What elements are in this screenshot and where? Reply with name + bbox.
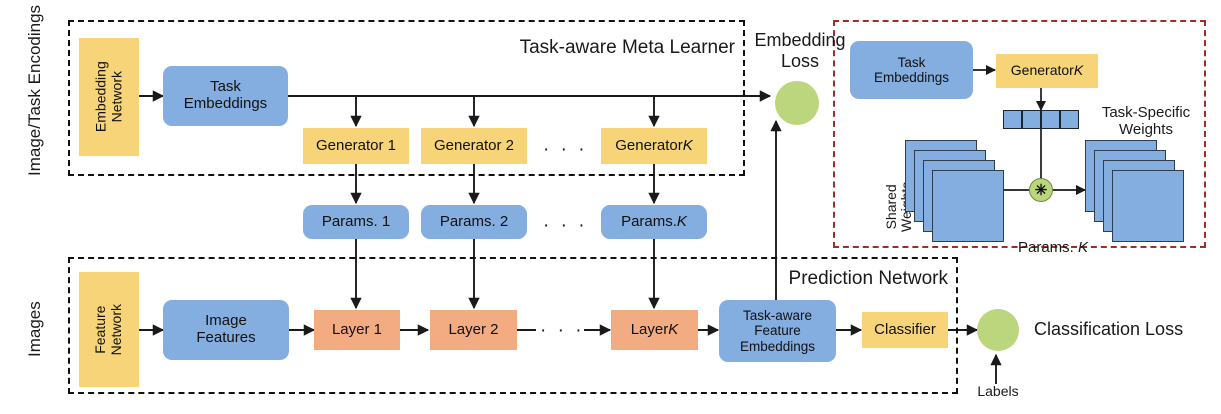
inset-output-weight-planes [1085, 140, 1195, 245]
generator-k-node: Generator K [601, 128, 707, 164]
weight-cell [1060, 110, 1079, 129]
feature-network-label: Feature Network [93, 304, 124, 355]
generators-ellipsis: · · · [543, 140, 588, 159]
inset-task-specific-weights-bar [1003, 110, 1079, 129]
side-label-image-task-encodings: Image/Task Encodings [26, 5, 43, 176]
inset-shared-weight-planes [905, 140, 1015, 245]
feature-network-node: Feature Network [79, 272, 139, 387]
image-features-node: Image Features [163, 300, 289, 360]
embedding-loss-label: Embedding Loss [744, 30, 856, 71]
generator-2-node: Generator 2 [421, 128, 527, 164]
labels-input-label: Labels [963, 383, 1033, 399]
generator-k-index: K [683, 138, 693, 155]
generator-k-label: Generator [615, 138, 683, 155]
classifier-node: Classifier [862, 312, 948, 348]
inset-generator-node: Generator K [996, 54, 1098, 88]
inset-multiply-icon: ✳ [1029, 178, 1053, 202]
task-embeddings-node: Task Embeddings [163, 66, 288, 126]
inset-params-text: Params. [1018, 239, 1078, 256]
params-ellipsis: · · · [543, 216, 588, 235]
weight-cell [1041, 110, 1060, 129]
layer-1-label: Layer 1 [332, 322, 382, 339]
params-1-node: Params. 1 [303, 205, 409, 239]
params-k-node: Params. K [601, 205, 707, 239]
group-title-prediction-network: Prediction Network [690, 269, 948, 288]
inset-params-index: K [1078, 239, 1088, 256]
generator-1-label: Generator 1 [316, 138, 396, 155]
embedding-loss-circle [775, 81, 819, 125]
classification-loss-label: Classification Loss [1034, 319, 1221, 340]
generator-2-label: Generator 2 [434, 138, 514, 155]
params-k-index: K [677, 214, 687, 231]
layer-k-label: Layer [631, 322, 669, 339]
weight-cell [1022, 110, 1041, 129]
inset-task-specific-weights-label: Task-Specific Weights [1086, 104, 1206, 139]
layer-1-node: Layer 1 [314, 310, 400, 350]
layer-2-node: Layer 2 [430, 310, 517, 350]
shared-weight-plane [932, 170, 1004, 242]
side-label-images: Images [26, 301, 43, 357]
layer-k-index: K [668, 322, 678, 339]
layers-ellipsis: · · · [540, 321, 585, 340]
embedding-network-label-wrap: Embedding Network [79, 38, 139, 156]
figure-canvas: Image/Task Encodings Images Task-aware M… [0, 0, 1221, 414]
params-2-label: Params. 2 [440, 214, 508, 231]
inset-task-embeddings-node: Task Embeddings [850, 41, 973, 99]
inset-generator-index: K [1074, 63, 1083, 79]
inset-params-label: Params. K [1018, 222, 1088, 257]
weight-cell [1003, 110, 1022, 129]
inset-generator-label: Generator [1011, 63, 1074, 79]
output-weight-plane [1112, 170, 1184, 242]
classification-loss-circle [977, 309, 1019, 351]
embedding-network-label: Embedding Network [93, 62, 124, 133]
embedding-network-node: Embedding Network [79, 38, 139, 156]
params-2-node: Params. 2 [421, 205, 527, 239]
layer-k-node: Layer K [611, 310, 698, 350]
task-aware-feature-embeddings-node: Task-aware Feature Embeddings [719, 300, 836, 362]
generator-1-node: Generator 1 [303, 128, 409, 164]
params-1-label: Params. 1 [322, 214, 390, 231]
params-k-label: Params. [621, 214, 677, 231]
feature-network-label-wrap: Feature Network [79, 272, 139, 387]
layer-2-label: Layer 2 [448, 322, 498, 339]
group-title-meta-learner: Task-aware Meta Learner [455, 38, 735, 57]
